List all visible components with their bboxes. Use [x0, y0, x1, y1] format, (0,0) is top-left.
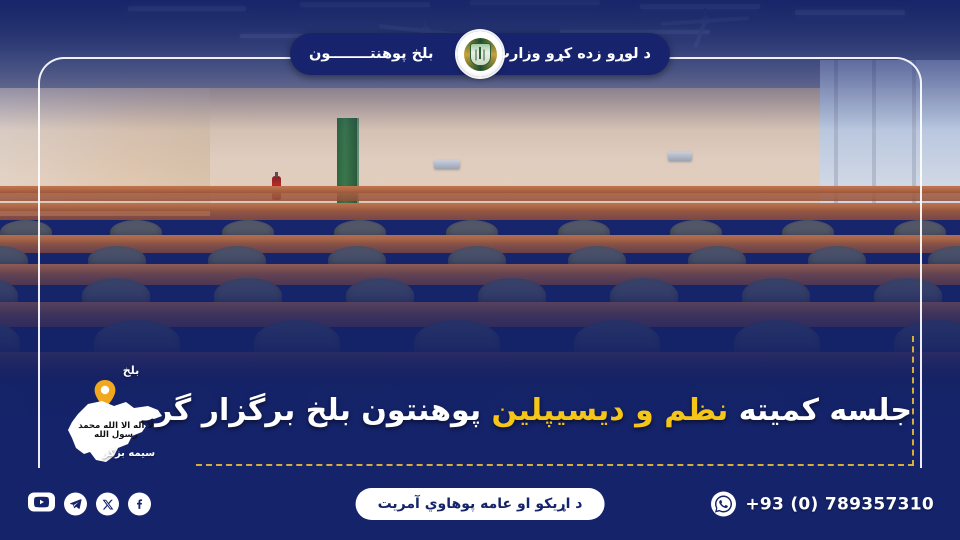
- headline-segment-3: پوهنتون بلخ: [295, 393, 481, 428]
- headline-segment-1: جلسه کمیته: [728, 393, 912, 428]
- poster-canvas: د لوړو زده کړو وزارت بلخ پوهنتــــــــون…: [0, 0, 960, 540]
- headline-segment-2: نظم و دیسیپلین: [481, 393, 728, 428]
- wall-speaker: [434, 160, 460, 169]
- ceiling-light: [470, 0, 600, 5]
- balkh-map-logo: بلخ لا اله الا الله محمد رسول الله سیمه …: [56, 362, 168, 470]
- ceiling-light: [795, 10, 905, 15]
- shahada-text: لا اله الا الله محمد رسول الله: [76, 418, 156, 444]
- footer-bar: د اړیکو او عامه پوهاوي آمریت +93 (0) 789…: [0, 468, 960, 540]
- ministry-label: د لوړو زده کړو وزارت: [495, 46, 651, 62]
- gold-dashed-vertical-line: [912, 336, 914, 466]
- map-pin-label: بلخ: [108, 364, 154, 377]
- ceiling-fan: [660, 8, 750, 34]
- whatsapp-icon[interactable]: [711, 492, 736, 517]
- x-twitter-icon[interactable]: [96, 493, 119, 516]
- youtube-icon[interactable]: [28, 493, 55, 512]
- ceiling-light: [128, 6, 246, 11]
- ceiling-light: [300, 2, 430, 7]
- social-links: [28, 493, 151, 516]
- facebook-icon[interactable]: [128, 493, 151, 516]
- page-title: جلسه کمیته نظم و دیسیپلین پوهنتون بلخ بر…: [192, 392, 912, 430]
- contact-info: +93 (0) 789357310: [711, 492, 934, 517]
- map-subtitle: سیمه بزګر: [96, 448, 162, 459]
- wall-speaker: [668, 152, 692, 161]
- gold-dashed-horizontal-line: [196, 464, 914, 466]
- university-label: بلخ پوهنتــــــــون: [309, 46, 433, 62]
- telegram-icon[interactable]: [64, 493, 87, 516]
- phone-number[interactable]: +93 (0) 789357310: [745, 494, 934, 514]
- department-label: د اړیکو او عامه پوهاوي آمریت: [378, 496, 583, 512]
- department-badge: د اړیکو او عامه پوهاوي آمریت: [356, 488, 605, 520]
- header-title-bar: د لوړو زده کړو وزارت بلخ پوهنتــــــــون: [290, 33, 670, 75]
- university-emblem-icon: [457, 31, 503, 77]
